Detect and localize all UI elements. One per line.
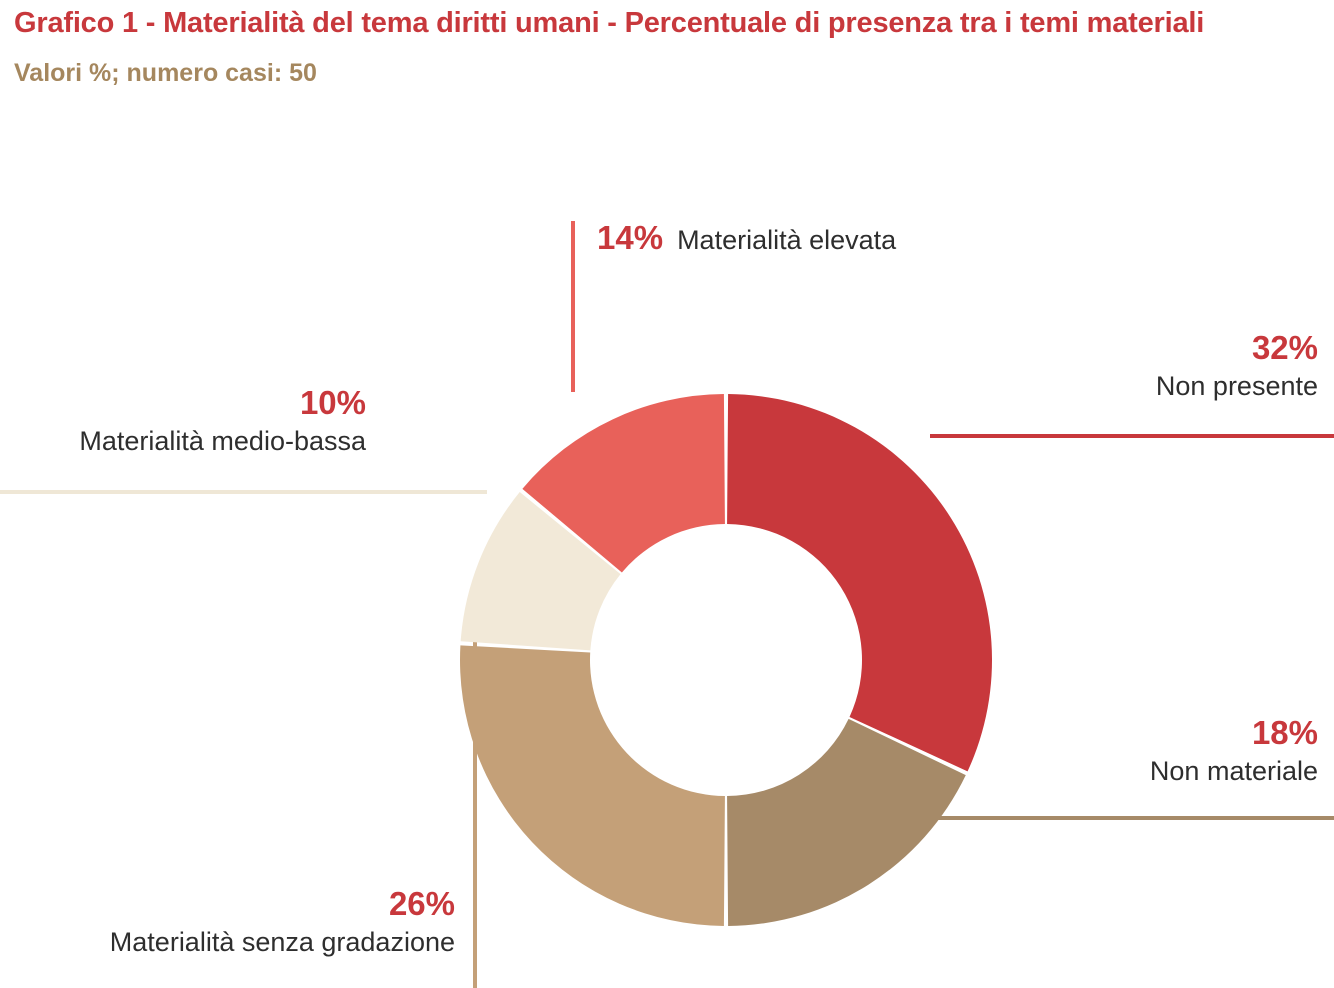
callout-non-presente: 32% Non presente (866, 330, 1318, 403)
callout-materialita-elevata: 14% Materialità elevata (597, 220, 896, 257)
category-label-materialita-elevata: Materialità elevata (677, 225, 896, 257)
donut-slices-group (460, 394, 992, 926)
category-label-non-presente: Non presente (866, 371, 1318, 403)
donut-chart-svg (0, 0, 1334, 988)
category-label-non-materiale: Non materiale (866, 756, 1318, 788)
value-label-materialita-medio-bassa: 10% (0, 385, 366, 422)
callout-materialita-senza-gradazione: 26% Materialità senza gradazione (0, 886, 455, 959)
donut-slice-materialita-senza-gradazione[interactable] (460, 645, 725, 926)
chart-container: Grafico 1 - Materialità del tema diritti… (0, 0, 1334, 988)
callout-materialita-medio-bassa: 10% Materialità medio-bassa (0, 385, 366, 458)
value-label-non-presente: 32% (866, 330, 1318, 367)
callout-non-materiale: 18% Non materiale (866, 715, 1318, 788)
value-label-materialita-senza-gradazione: 26% (0, 886, 455, 923)
value-label-non-materiale: 18% (866, 715, 1318, 752)
category-label-materialita-senza-gradazione: Materialità senza gradazione (0, 927, 455, 959)
value-label-materialita-elevata: 14% (597, 220, 663, 257)
category-label-materialita-medio-bassa: Materialità medio-bassa (0, 426, 366, 458)
